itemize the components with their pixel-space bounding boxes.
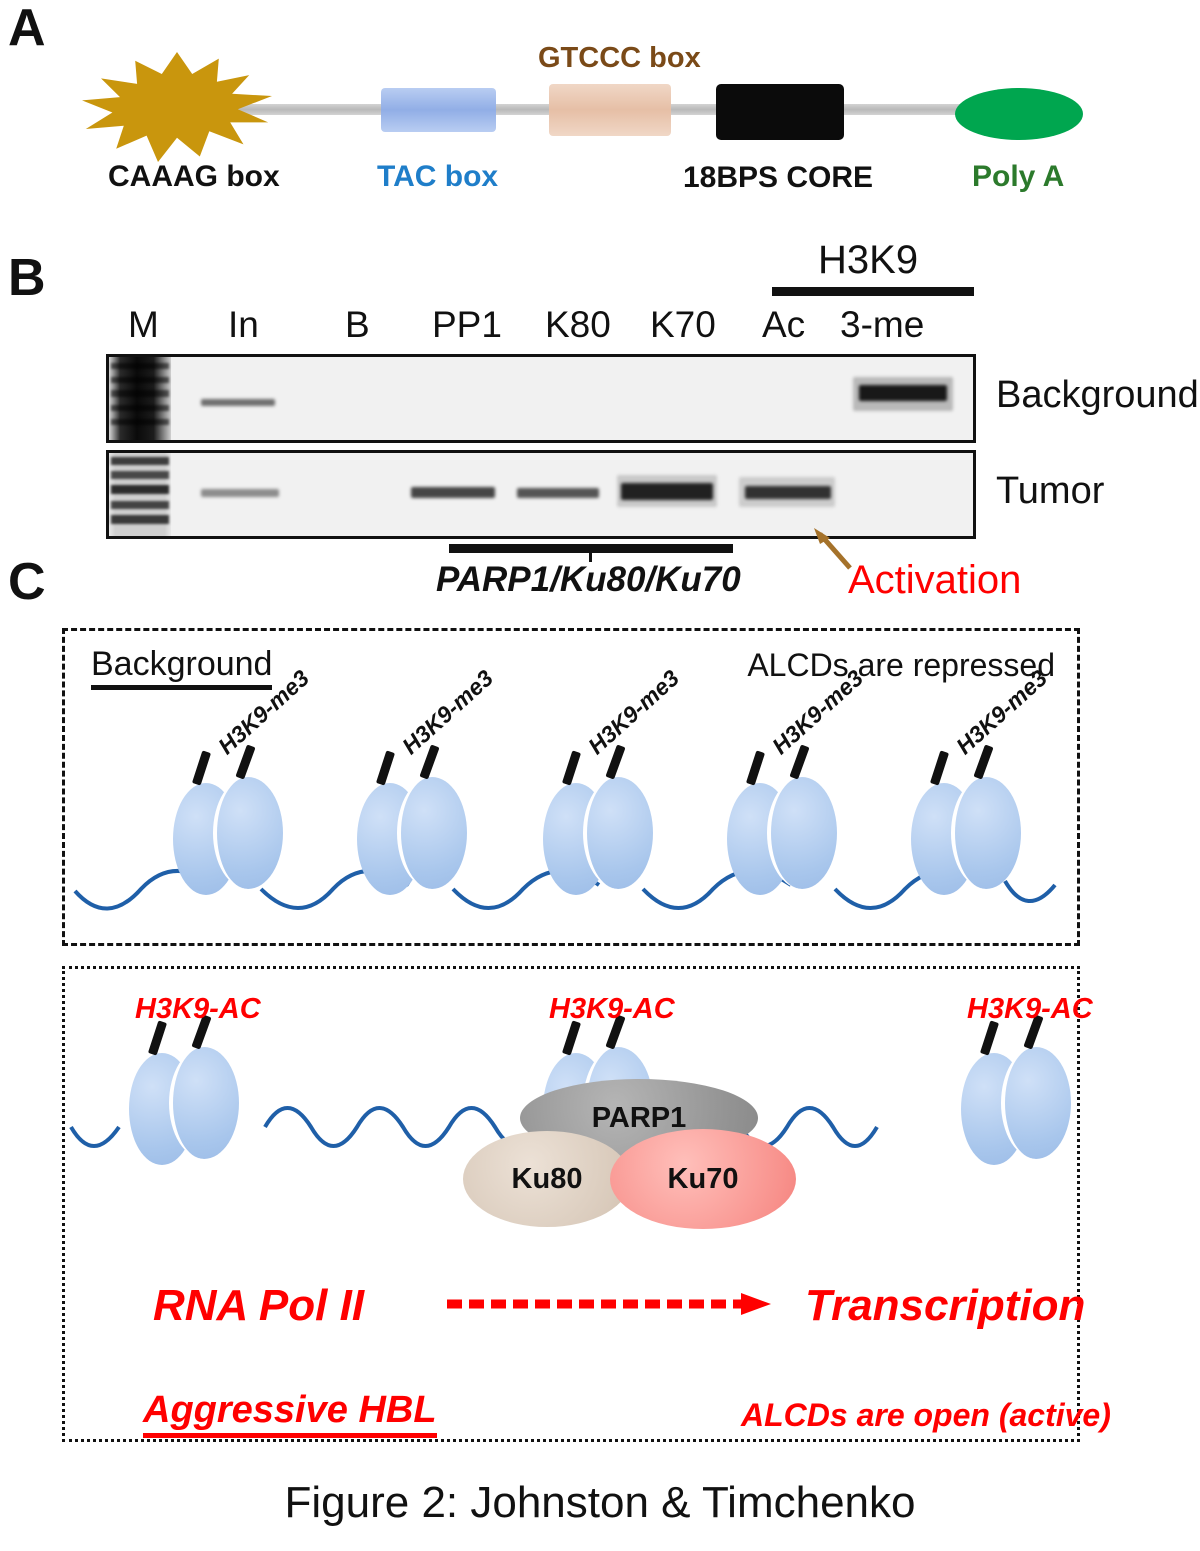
nucleosome-pair: H3K9-me3 [357, 777, 465, 895]
band-tumor-pp1 [411, 487, 495, 498]
band-background-3me-halo [853, 377, 953, 411]
band-tumor-ac-halo [739, 477, 835, 507]
nucleosome-pair: H3K9-me3 [727, 777, 835, 895]
histone-tail-tick [930, 750, 949, 785]
tac-box-shape [381, 88, 496, 132]
panel-letter-b: B [8, 252, 46, 304]
blot-row-label-tumor: Tumor [996, 470, 1104, 513]
lane-label-m: M [128, 304, 159, 346]
aggressive-hbl-label: Aggressive HBL [143, 1389, 437, 1438]
band-tumor-in [201, 489, 279, 497]
blot-row-label-background: Background [996, 374, 1199, 417]
band-tumor-k70-halo [617, 475, 717, 507]
aggressive-hbl-state-box: H3K9-ACH3K9-ACH3K9-AC PARP1 Ku80 Ku70 RN… [62, 966, 1080, 1442]
poly-a-ellipse [955, 88, 1083, 140]
alcds-open-note: ALCDs are open (active) [741, 1397, 1111, 1434]
band-background-in [201, 399, 275, 406]
lane-label-k70: K70 [650, 304, 716, 346]
histone-tail-tick [562, 750, 581, 785]
band-tumor-k80 [517, 488, 599, 498]
panel-b: B H3K9 MInBPP1K80K70Ac3-me Background [0, 228, 1200, 608]
alcds-repressed-note: ALCDs are repressed [747, 647, 1055, 684]
histone-mark-label: H3K9-AC [967, 993, 1093, 1026]
gtccc-box-shape [549, 84, 671, 136]
core-18bps-label: 18BPS CORE [683, 161, 873, 195]
h3k9-group-bar [772, 287, 974, 296]
lane-label-3-me: 3-me [840, 304, 924, 346]
nucleosome-pair: H3K9-me3 [173, 777, 281, 895]
nucleosome-disc [767, 777, 837, 889]
caaag-box-label: CAAAG box [108, 160, 280, 194]
lane-label-in: In [228, 304, 259, 346]
parp-ku-bracket-bar [449, 544, 733, 553]
ladder-marker-tumor [109, 453, 171, 536]
nucleosome-pair: H3K9-me3 [543, 777, 651, 895]
lane-label-pp1: PP1 [432, 304, 502, 346]
histone-tail-tick [192, 750, 211, 785]
histone-mark-label: H3K9-AC [549, 993, 675, 1026]
nucleosome-disc [169, 1047, 239, 1159]
background-box-title: Background [91, 645, 272, 690]
rna-pol-ii-label: RNA Pol II [153, 1281, 364, 1331]
nucleosome-pair: H3K9-AC [129, 1047, 237, 1165]
nucleosome-pair: H3K9-AC [961, 1047, 1069, 1165]
nucleosome-disc [213, 777, 283, 889]
poly-a-label: Poly A [972, 160, 1064, 194]
histone-tail-tick [376, 750, 395, 785]
nucleosome-pair: H3K9-me3 [911, 777, 1019, 895]
tac-box-label: TAC box [377, 160, 498, 194]
ku80-protein: Ku80 [463, 1131, 631, 1227]
panel-c: C Background ALCDs are repressed H3K9-me… [0, 556, 1200, 1496]
ku70-protein: Ku70 [610, 1129, 796, 1229]
histone-tail-tick [746, 750, 765, 785]
panel-a: A CAAAG box TAC box GTCCC box 18BPS CORE… [0, 0, 1200, 215]
background-state-box: Background ALCDs are repressed H3K9-me3H… [62, 628, 1080, 946]
nucleosome-disc [1001, 1047, 1071, 1159]
nucleosome-disc [583, 777, 653, 889]
lane-label-b: B [345, 304, 370, 346]
figure-caption: Figure 2: Johnston & Timchenko [0, 1478, 1200, 1528]
lane-label-k80: K80 [545, 304, 611, 346]
ladder-marker-background [109, 357, 171, 440]
core-18bps-shape [716, 84, 844, 140]
lane-label-ac: Ac [762, 304, 805, 346]
histone-mark-label: H3K9-AC [135, 993, 261, 1026]
gtccc-box-label: GTCCC box [538, 42, 701, 75]
nucleosome-disc [397, 777, 467, 889]
caaag-box-starburst-icon [82, 52, 272, 162]
transcription-arrow-icon [445, 1291, 775, 1317]
panel-letter-a: A [8, 2, 46, 54]
blot-background [106, 354, 976, 443]
histone-mark-label: H3K9-me3 [397, 665, 499, 760]
histone-mark-label: H3K9-me3 [583, 665, 685, 760]
nucleosome-disc [951, 777, 1021, 889]
h3k9-group-header: H3K9 [818, 238, 918, 283]
transcription-label: Transcription [805, 1281, 1085, 1331]
panel-letter-c: C [8, 556, 46, 608]
